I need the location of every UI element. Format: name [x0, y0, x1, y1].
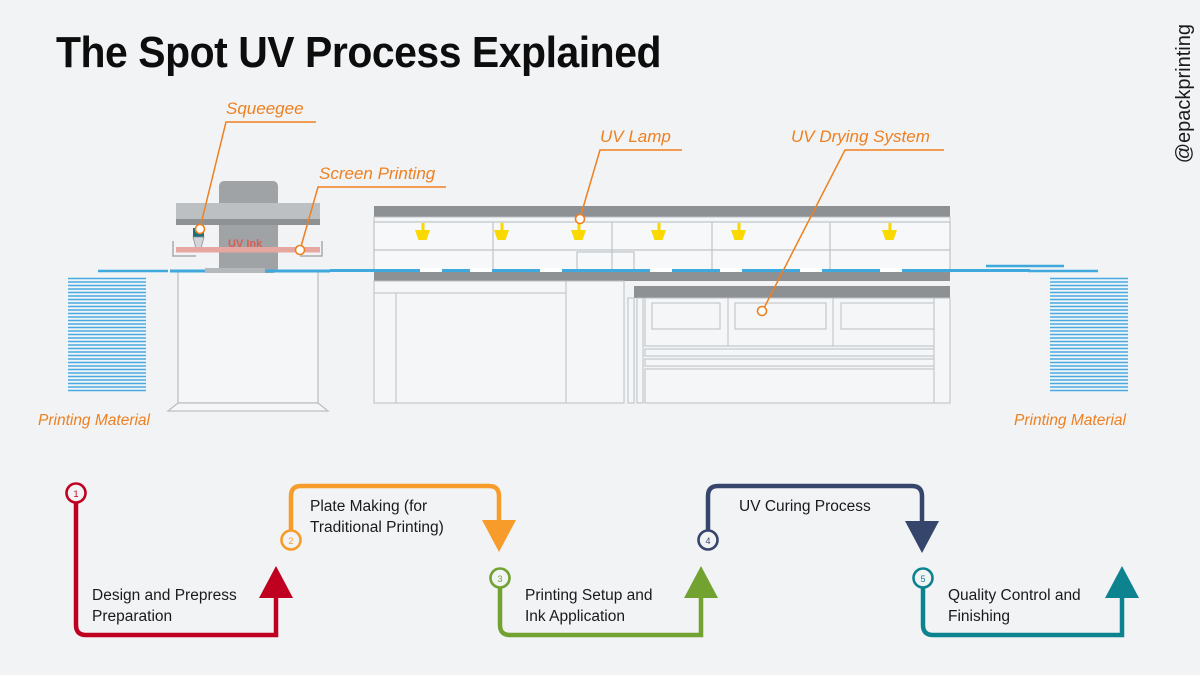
step-number-5: 5 — [920, 574, 925, 584]
paper-stack-left — [68, 271, 168, 393]
step-label-4: UV Curing Process — [739, 496, 871, 517]
step-number-3: 3 — [497, 574, 502, 584]
uv-drying-machine — [330, 206, 1030, 403]
step-label-5: Quality Control and Finishing — [948, 585, 1081, 627]
screen-printing-unit — [168, 181, 330, 411]
step-label-1: Design and Prepress Preparation — [92, 585, 237, 627]
spot-uv-machine-diagram: 1 2 3 4 5 — [0, 0, 1200, 675]
step-label-3: Printing Setup and Ink Application — [525, 585, 653, 627]
callout-label-uv-lamp: UV Lamp — [600, 127, 671, 147]
printing-material-label-right: Printing Material — [1014, 412, 1126, 430]
step-label-2: Plate Making (for Traditional Printing) — [310, 496, 444, 538]
callout-label-screen-printing: Screen Printing — [319, 164, 435, 184]
uv-ink-label: UV Ink — [228, 238, 262, 250]
paper-stack-right — [986, 266, 1128, 393]
callout-label-uv-drying-system: UV Drying System — [791, 127, 930, 147]
step-number-2: 2 — [288, 536, 293, 546]
step-number-1: 1 — [73, 489, 78, 499]
infographic-canvas: The Spot UV Process Explained @epackprin… — [0, 0, 1200, 675]
step-number-4: 4 — [705, 536, 710, 546]
callout-label-squeegee: Squeegee — [226, 99, 304, 119]
printing-material-label-left: Printing Material — [38, 412, 150, 430]
